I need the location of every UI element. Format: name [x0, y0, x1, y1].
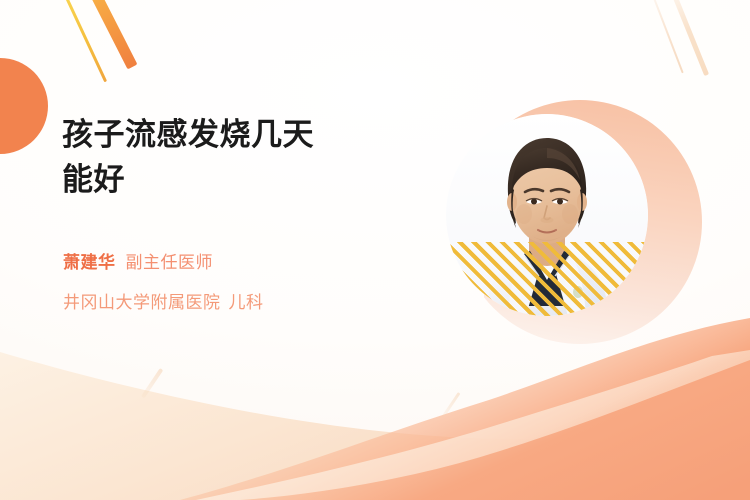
doctor-portrait-photo — [446, 114, 648, 316]
doctor-title: 副主任医师 — [126, 253, 214, 272]
thumbnail-canvas: 孩子流感发烧几天 能好 萧建华副主任医师 井冈山大学附属医院儿科 — [0, 0, 750, 500]
doctor-photo-area — [432, 92, 722, 382]
doctor-credentials: 萧建华副主任医师 井冈山大学附属医院儿科 — [63, 250, 423, 316]
department-name: 儿科 — [229, 293, 264, 312]
doctor-name-line: 萧建华副主任医师 — [63, 250, 423, 276]
page-title: 孩子流感发烧几天 能好 — [62, 112, 412, 202]
portrait-illustration — [446, 114, 648, 316]
hospital-line: 井冈山大学附属医院儿科 — [63, 290, 423, 316]
doctor-name: 萧建华 — [63, 253, 116, 272]
hospital-name: 井冈山大学附属医院 — [63, 293, 221, 312]
